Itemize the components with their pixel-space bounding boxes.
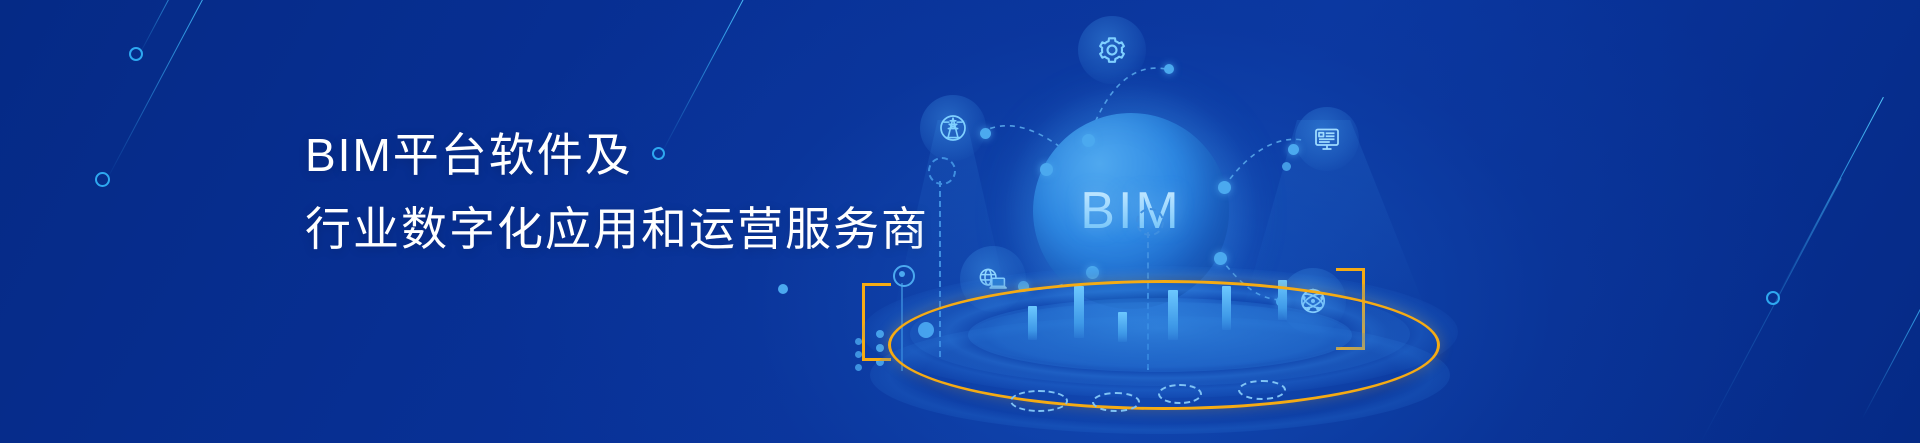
page-title: BIM平台软件及 行业数字化应用和运营服务商 (305, 118, 929, 266)
icon-bubble-power-tower[interactable] (920, 95, 986, 161)
radar-mini-ellipse (1238, 380, 1286, 400)
accent-dot-monitor (1282, 162, 1291, 171)
lollipop-ring-left (928, 157, 956, 185)
hero-banner: BIM平台软件及 行业数字化应用和运营服务商 BIM (0, 0, 1920, 443)
comet-endpoint-dot (129, 47, 143, 61)
floating-dot-small (778, 284, 788, 294)
comet-endpoint-dot (95, 172, 110, 187)
headline-line-2: 行业数字化应用和运营服务商 (305, 192, 929, 266)
comet-streak (1700, 178, 1842, 443)
comet-streak (1862, 268, 1920, 419)
monitor-report-icon (1312, 124, 1342, 154)
gear-icon (1097, 35, 1127, 65)
power-tower-icon (937, 112, 969, 144)
bim-illustration: BIM (840, 0, 1480, 443)
sphere-node-monitor (1218, 181, 1231, 194)
radar-mini-ellipse (1158, 384, 1202, 404)
sphere-node-power (1040, 163, 1053, 176)
bubble-node-gear (1164, 64, 1174, 74)
bubble-node-monitor (1288, 144, 1299, 155)
icon-bubble-gear[interactable] (1078, 16, 1146, 84)
comet-streak (105, 0, 223, 182)
radar-mini-ellipse (1092, 392, 1140, 412)
bubble-node-power-tower (980, 128, 991, 139)
headline-line-1: BIM平台软件及 (305, 118, 929, 192)
bim-sphere-label: BIM (1080, 181, 1181, 241)
icon-bubble-monitor[interactable] (1295, 107, 1359, 171)
radar-mini-ellipse (1010, 390, 1068, 412)
sphere-node-gear (1082, 134, 1095, 147)
radar-base (850, 258, 1470, 443)
lollipop-ring-right (1136, 208, 1164, 236)
